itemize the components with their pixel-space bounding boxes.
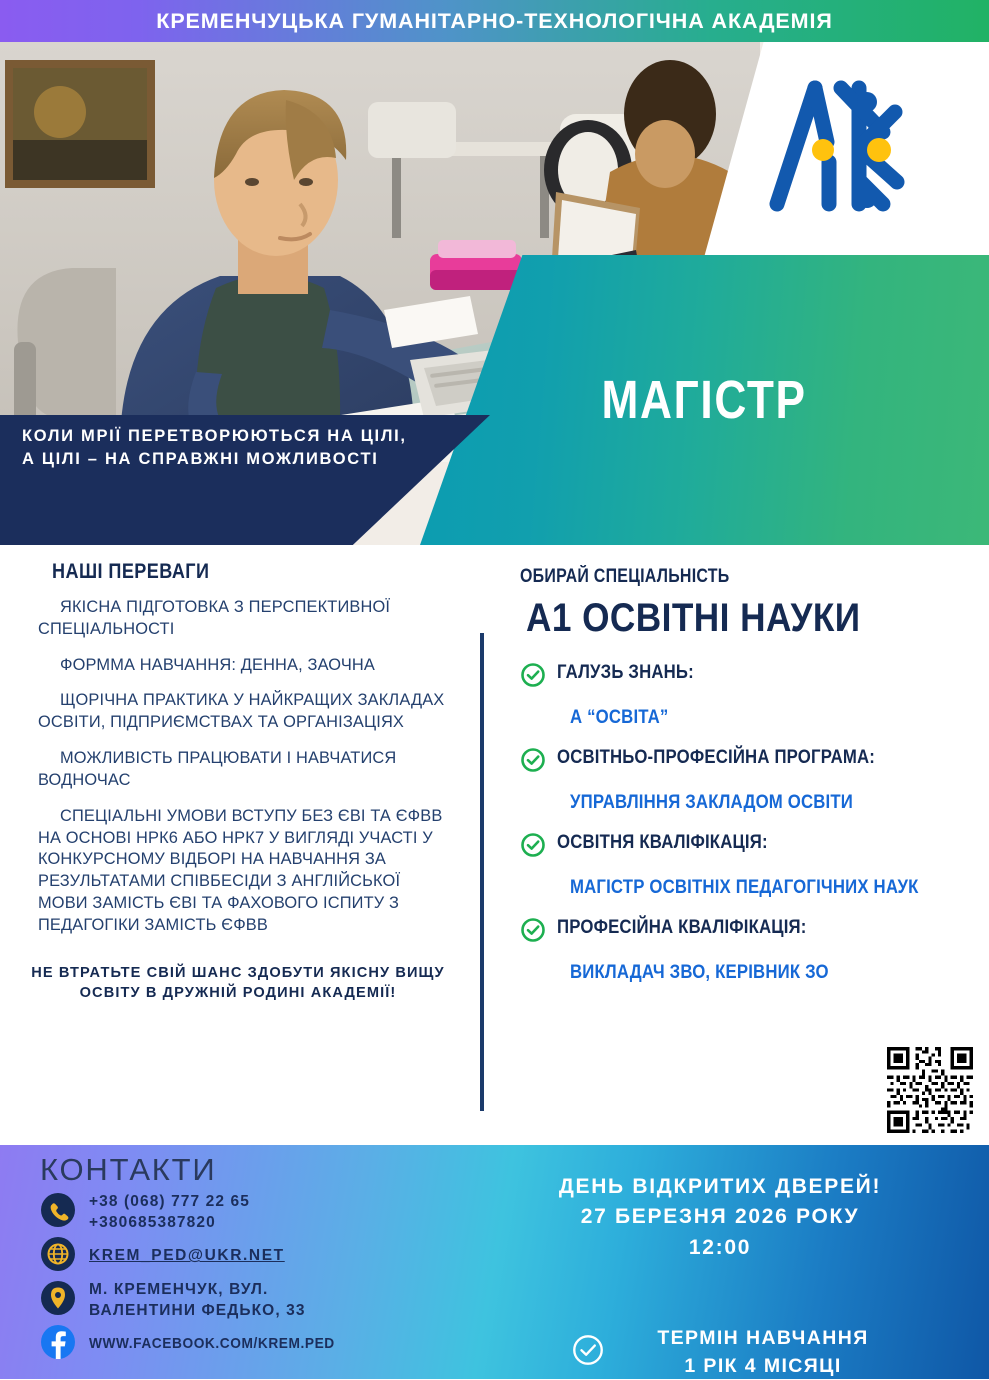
logo-ak-icon	[755, 58, 925, 223]
specialty-row-label: ОСВІТНЯ КВАЛІФІКАЦІЯ:	[557, 831, 768, 854]
specialty-row-value: МАГІСТР ОСВІТНІХ ПЕДАГОГІЧНИХ НАУК	[570, 876, 923, 899]
choose-specialty-label: ОБИРАЙ СПЕЦІАЛЬНІСТЬ	[520, 566, 906, 588]
specialty-row-value: УПРАВЛІННЯ ЗАКЛАДОМ ОСВІТИ	[570, 791, 923, 814]
advantage-item: ЩОРІЧНА ПРАКТИКА У НАЙКРАЩИХ ЗАКЛАДАХ ОС…	[38, 690, 450, 734]
specialty-column: ОБИРАЙ СПЕЦІАЛЬНІСТЬ А1 ОСВІТНІ НАУКИ ГА…	[520, 566, 980, 984]
specialty-row: ОСВІТНЯ КВАЛІФІКАЦІЯ:	[520, 831, 980, 863]
contact-phone-row[interactable]: +38 (068) 777 22 65 +380685387820	[40, 1192, 440, 1233]
open-day-date: 27 БЕРЕЗНЯ 2026 РОКУ	[470, 1202, 970, 1232]
check-circle-icon	[520, 747, 546, 778]
facebook-icon	[40, 1324, 76, 1365]
duration-row: ТЕРМІН НАВЧАННЯ 1 РІК 4 МІСЯЦІ	[470, 1325, 970, 1380]
degree-title-wrap: МАГІСТР	[420, 255, 989, 545]
akademiya-logo	[745, 48, 935, 233]
contact-facebook-row[interactable]: WWW.FACEBOOK.COM/KREM.PED	[40, 1324, 440, 1365]
check-circle-icon	[520, 832, 546, 863]
phone-primary: +38 (068) 777 22 65	[89, 1192, 250, 1212]
specialty-row: ПРОФЕСІЙНА КВАЛІФІКАЦІЯ:	[520, 916, 980, 948]
specialty-row: ГАЛУЗЬ ЗНАНЬ:	[520, 661, 980, 693]
poster-root: КРЕМЕНЧУЦЬКА ГУМАНІТАРНО-ТЕХНОЛОГІЧНА АК…	[0, 0, 989, 1379]
qr-code[interactable]	[884, 1044, 976, 1136]
check-circle-icon	[520, 662, 546, 693]
advantage-item: ФОРММА НАВЧАННЯ: ДЕННА, ЗАОЧНА	[38, 655, 450, 677]
email-link[interactable]: KREM_PED@UKR.NET	[89, 1246, 285, 1266]
address-line-2: ВАЛЕНТИНИ ФЕДЬКО, 33	[89, 1301, 306, 1321]
duration-value: 1 РІК 4 МІСЯЦІ	[657, 1353, 868, 1380]
globe-icon	[40, 1236, 76, 1277]
location-pin-icon	[40, 1280, 76, 1321]
phone-icon	[40, 1192, 76, 1233]
academy-name: КРЕМЕНЧУЦЬКА ГУМАНІТАРНО-ТЕХНОЛОГІЧНА АК…	[156, 9, 832, 34]
facebook-link[interactable]: WWW.FACEBOOK.COM/KREM.PED	[89, 1335, 335, 1354]
advantages-column: НАШІ ПЕРЕВАГИ ЯКІСНА ПІДГОТОВКА З ПЕРСПЕ…	[0, 560, 470, 1004]
advantages-title: НАШІ ПЕРЕВАГИ	[52, 560, 411, 584]
contact-email-row[interactable]: KREM_PED@UKR.NET	[40, 1236, 440, 1277]
qr-code-icon	[884, 1044, 976, 1136]
contacts-block: КОНТАКТИ +38 (068) 777 22 65 +3806853878…	[40, 1152, 440, 1368]
specialty-row-value: ВИКЛАДАЧ ЗВО, КЕРІВНИК ЗО	[570, 961, 923, 984]
slogan-text: КОЛИ МРІЇ ПЕРЕТВОРЮЮТЬСЯ НА ЦІЛІ, А ЦІЛІ…	[22, 425, 422, 472]
advantage-item: МОЖЛИВІСТЬ ПРАЦЮВАТИ І НАВЧАТИСЯ ВОДНОЧА…	[38, 748, 450, 792]
specialty-row-label: ГАЛУЗЬ ЗНАНЬ:	[557, 661, 694, 684]
open-day-title: ДЕНЬ ВІДКРИТИХ ДВЕРЕЙ!	[470, 1172, 970, 1202]
header-bar: КРЕМЕНЧУЦЬКА ГУМАНІТАРНО-ТЕХНОЛОГІЧНА АК…	[0, 0, 989, 42]
contact-address-row: М. КРЕМЕНЧУК, ВУЛ. ВАЛЕНТИНИ ФЕДЬКО, 33	[40, 1280, 440, 1321]
duration-label: ТЕРМІН НАВЧАННЯ	[657, 1325, 868, 1352]
advantage-item: СПЕЦІАЛЬНІ УМОВИ ВСТУПУ БЕЗ ЄВІ ТА ЄФВВ …	[38, 806, 450, 937]
address-line-1: М. КРЕМЕНЧУК, ВУЛ.	[89, 1280, 306, 1300]
advantage-item: ЯКІСНА ПІДГОТОВКА З ПЕРСПЕКТИВНОЇ СПЕЦІА…	[38, 597, 450, 641]
check-circle-icon	[571, 1333, 605, 1372]
check-circle-icon	[520, 917, 546, 948]
specialty-row: ОСВІТНЬО-ПРОФЕСІЙНА ПРОГРАМА:	[520, 746, 980, 778]
phone-secondary: +380685387820	[89, 1213, 250, 1233]
open-day-time: 12:00	[470, 1233, 970, 1263]
contacts-title: КОНТАКТИ	[40, 1152, 440, 1188]
event-block: ДЕНЬ ВІДКРИТИХ ДВЕРЕЙ! 27 БЕРЕЗНЯ 2026 Р…	[470, 1172, 970, 1380]
specialty-row-label: ОСВІТНЬО-ПРОФЕСІЙНА ПРОГРАМА:	[557, 746, 875, 769]
specialty-row-label: ПРОФЕСІЙНА КВАЛІФІКАЦІЯ:	[557, 916, 807, 939]
degree-title: МАГІСТР	[602, 369, 807, 431]
advantages-closing: НЕ ВТРАТЬТЕ СВІЙ ШАНС ЗДОБУТИ ЯКІСНУ ВИЩ…	[18, 963, 458, 1004]
specialty-name: А1 ОСВІТНІ НАУКИ	[526, 596, 926, 641]
specialty-row-value: А “ОСВІТА”	[570, 706, 923, 729]
column-divider	[480, 633, 484, 1111]
